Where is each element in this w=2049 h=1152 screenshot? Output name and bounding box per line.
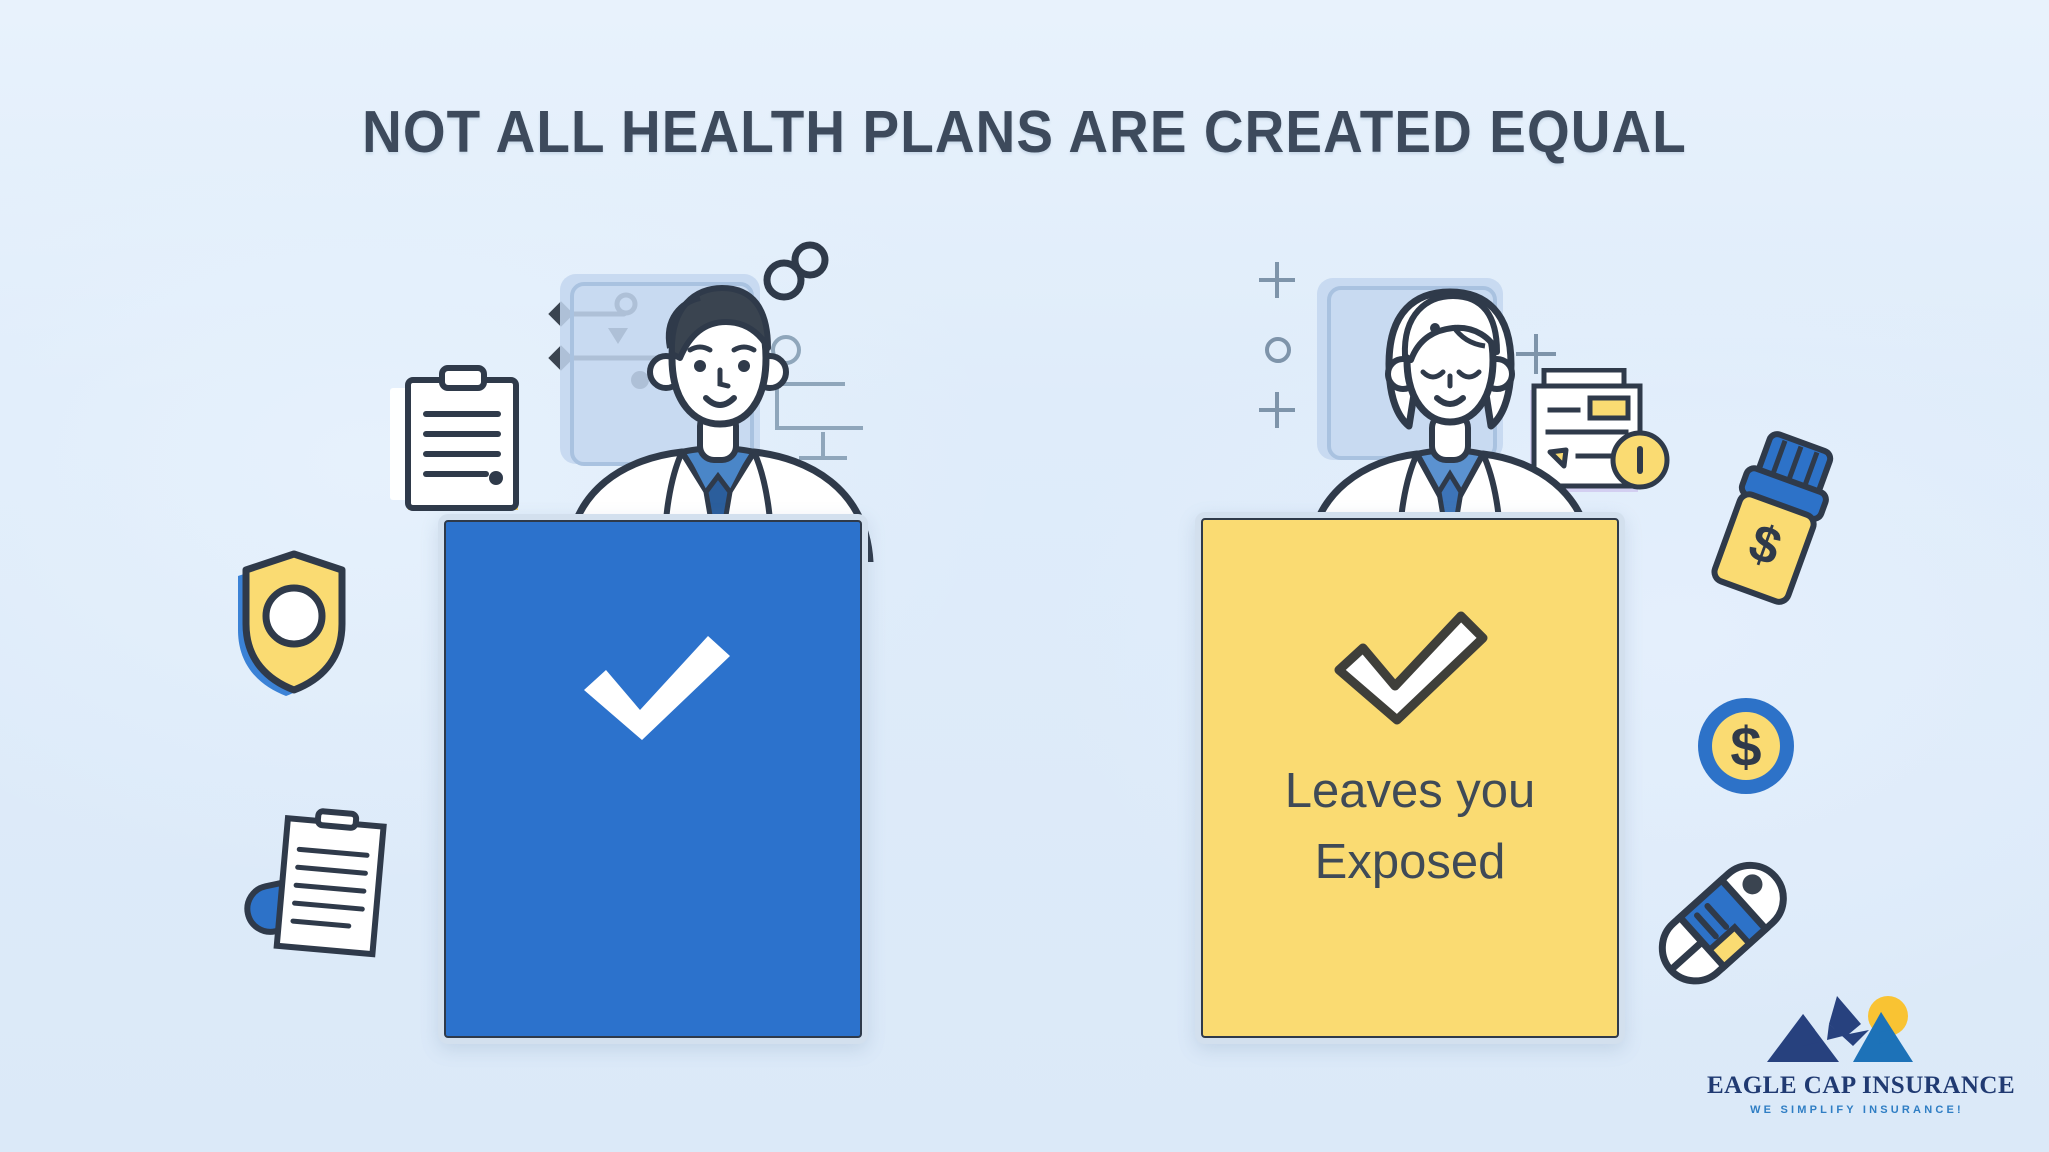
yellow-panel-caption: Leaves you Exposed <box>1195 756 1625 898</box>
logo-tagline: WE SIMPLIFY INSURANCE! <box>1707 1104 2007 1116</box>
caption-line-1: Leaves you <box>1195 756 1625 827</box>
check-icon <box>1325 606 1495 736</box>
yellow-panel[interactable]: Leaves you Exposed <box>1195 512 1625 1044</box>
dollar-coin-icon: $ <box>1692 692 1800 800</box>
infographic-canvas: NOT ALL HEALTH PLANS ARE CREATED EQUAL <box>0 0 2049 1152</box>
shield-icon <box>228 548 368 698</box>
bandage-icon <box>1638 848 1803 998</box>
check-icon <box>566 624 746 754</box>
logo-name: EAGLE CAP INSURANCE <box>1707 1072 2007 1100</box>
caption-line-2: Exposed <box>1195 827 1625 898</box>
svg-text:$: $ <box>1730 715 1761 778</box>
clipboard-icon <box>390 362 530 522</box>
prescription-clipboard-icon <box>238 808 393 968</box>
blue-panel[interactable] <box>438 514 868 1044</box>
blue-panel-surface <box>444 520 862 1038</box>
mountain-eagle-sun-icon <box>1757 990 1957 1070</box>
alert-badge-icon <box>1613 433 1667 487</box>
page-title: NOT ALL HEALTH PLANS ARE CREATED EQUAL <box>72 98 1978 166</box>
brand-logo[interactable]: EAGLE CAP INSURANCE WE SIMPLIFY INSURANC… <box>1707 990 2007 1116</box>
pill-bottle-icon: $ <box>1700 428 1850 608</box>
